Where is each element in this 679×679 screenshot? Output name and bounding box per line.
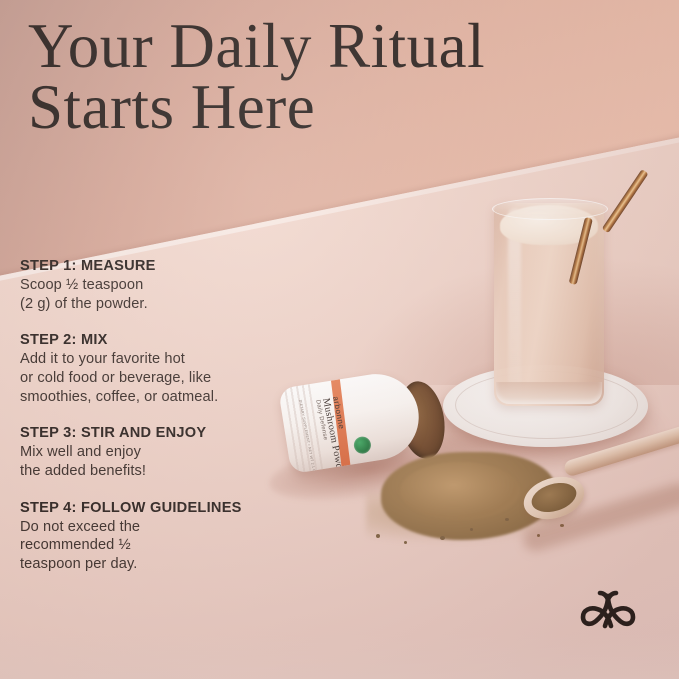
step-2-body: Add it to your favorite hot or cold food… bbox=[20, 350, 320, 406]
step-4-body: Do not exceed the recommended ½ teaspoon… bbox=[20, 518, 320, 574]
glass-rim bbox=[492, 198, 608, 220]
arbonne-ae-logo bbox=[578, 588, 638, 634]
powder-speck bbox=[505, 518, 509, 521]
powder-speck bbox=[440, 536, 445, 540]
spilled-powder-mound bbox=[400, 462, 520, 520]
step-3-title: STEP 3: STIR AND ENJOY bbox=[20, 425, 320, 441]
step-1-body: Scoop ½ teaspoon (2 g) of the powder. bbox=[20, 276, 320, 313]
steps-list: STEP 1: MEASURE Scoop ½ teaspoon (2 g) o… bbox=[20, 258, 320, 593]
headline-line-1: Your Daily Ritual bbox=[28, 11, 485, 81]
headline-line-2: Starts Here bbox=[28, 77, 648, 138]
infographic-canvas: Your Daily Ritual Starts Here STEP 1: ME… bbox=[0, 0, 679, 679]
bottom-gradient-band bbox=[0, 633, 679, 679]
step-item: STEP 4: FOLLOW GUIDELINES Do not exceed … bbox=[20, 500, 320, 574]
vegan-certified-seal-icon bbox=[353, 435, 372, 454]
page-title: Your Daily Ritual Starts Here bbox=[28, 16, 648, 138]
step-item: STEP 2: MIX Add it to your favorite hot … bbox=[20, 332, 320, 406]
step-4-title: STEP 4: FOLLOW GUIDELINES bbox=[20, 500, 320, 516]
step-1-title: STEP 1: MEASURE bbox=[20, 258, 320, 274]
glass-base bbox=[496, 382, 602, 404]
powder-speck bbox=[376, 534, 380, 538]
powder-speck bbox=[404, 541, 407, 544]
powder-speck bbox=[470, 528, 473, 531]
step-2-title: STEP 2: MIX bbox=[20, 332, 320, 348]
step-item: STEP 1: MEASURE Scoop ½ teaspoon (2 g) o… bbox=[20, 258, 320, 313]
